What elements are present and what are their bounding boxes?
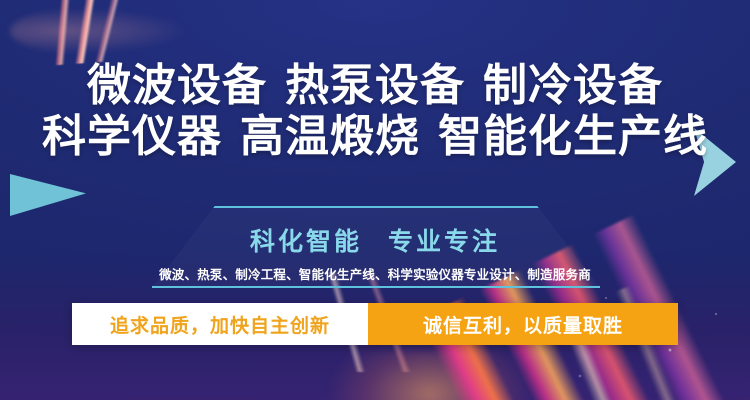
trapezoid-baseline [152,286,600,288]
slogan-bar-right: 诚信互利，以质量取胜 [368,303,678,345]
feature-tagline: 科化智能专业专注 [0,222,750,258]
headline-word-refrigeration: 制冷设备 [483,61,663,110]
feature-tagline-part-2: 专业专注 [388,228,500,256]
slogan-bar-left: 追求品质，加快自主创新 [72,303,368,345]
feature-description: 微波、热泵、制冷工程、智能化生产线、科学实验仪器专业设计、制造服务商 [0,264,750,283]
headline: 微波设备热泵设备制冷设备 科学仪器高温煅烧智能化生产线 [0,60,750,163]
feature-tagline-part-1: 科化智能 [250,228,362,256]
headline-line-2: 科学仪器高温煅烧智能化生产线 [0,111,750,162]
headline-line-1: 微波设备热泵设备制冷设备 [0,60,750,111]
headline-word-instruments: 科学仪器 [42,112,222,161]
headline-word-heatpump: 热泵设备 [285,61,465,110]
headline-word-microwave: 微波设备 [87,61,267,110]
light-glow-top-left-icon [10,8,190,54]
slogan-bar-group: 追求品质，加快自主创新 诚信互利，以质量取胜 [72,303,678,345]
promo-banner: 微波设备热泵设备制冷设备 科学仪器高温煅烧智能化生产线 科化智能专业专注 微波、… [0,0,750,400]
headline-word-calcination: 高温煅烧 [240,112,420,161]
headline-word-smartline: 智能化生产线 [438,112,708,161]
